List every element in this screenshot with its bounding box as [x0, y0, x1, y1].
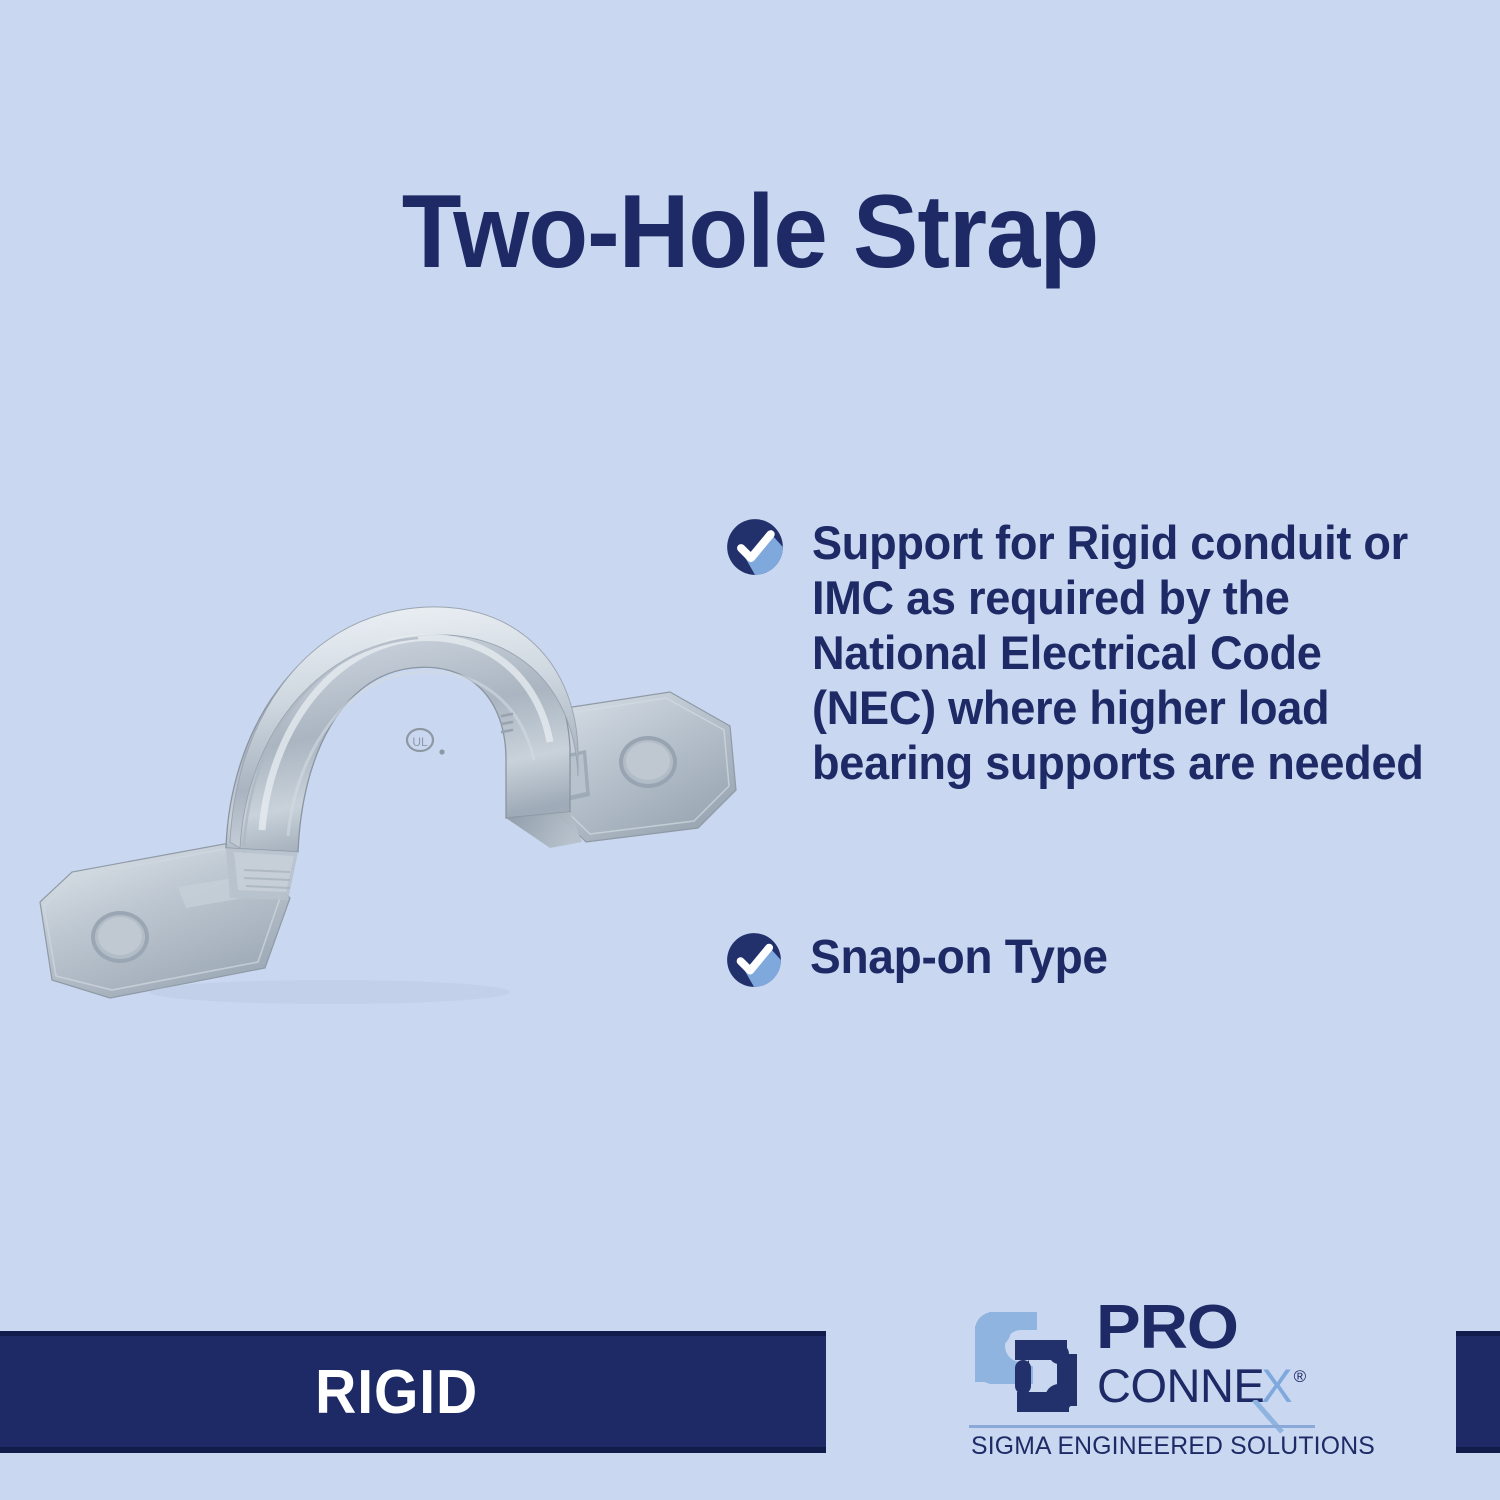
check-circle-icon — [726, 932, 782, 988]
feature-text: Snap-on Type — [810, 932, 1108, 985]
feature-item: Snap-on Type — [726, 932, 1466, 988]
brand-x-tail-flourish-icon — [1252, 1400, 1292, 1434]
brand-name-pro: PRO — [1096, 1297, 1238, 1359]
brand-logo: PRO CONNEX® SIGMA ENGINEERED SOLUTIONS — [965, 1296, 1315, 1461]
brand-name-connex-text: CONNE — [1097, 1362, 1264, 1409]
feature-text: Support for Rigid conduit or IMC as requ… — [812, 516, 1440, 791]
product-image: UL — [30, 580, 750, 1020]
logo-divider — [969, 1425, 1315, 1428]
brand-tagline: SIGMA ENGINEERED SOLUTIONS — [971, 1432, 1375, 1461]
brand-wordmark: PRO CONNEX® — [1096, 1296, 1316, 1422]
page-title: Two-Hole Strap — [45, 178, 1455, 287]
svg-text:UL: UL — [412, 735, 428, 749]
category-banner: RIGID — [0, 1331, 826, 1453]
product-marketing-card: Two-Hole Strap — [0, 0, 1500, 1500]
category-banner-label: RIGID — [315, 1357, 478, 1428]
banner-right-accent-block — [1456, 1331, 1500, 1453]
feature-item: Support for Rigid conduit or IMC as requ… — [726, 516, 1466, 791]
check-circle-icon — [726, 518, 784, 576]
registered-trademark-icon: ® — [1294, 1367, 1307, 1386]
interlocking-sg-logo-mark-icon — [965, 1304, 1087, 1422]
